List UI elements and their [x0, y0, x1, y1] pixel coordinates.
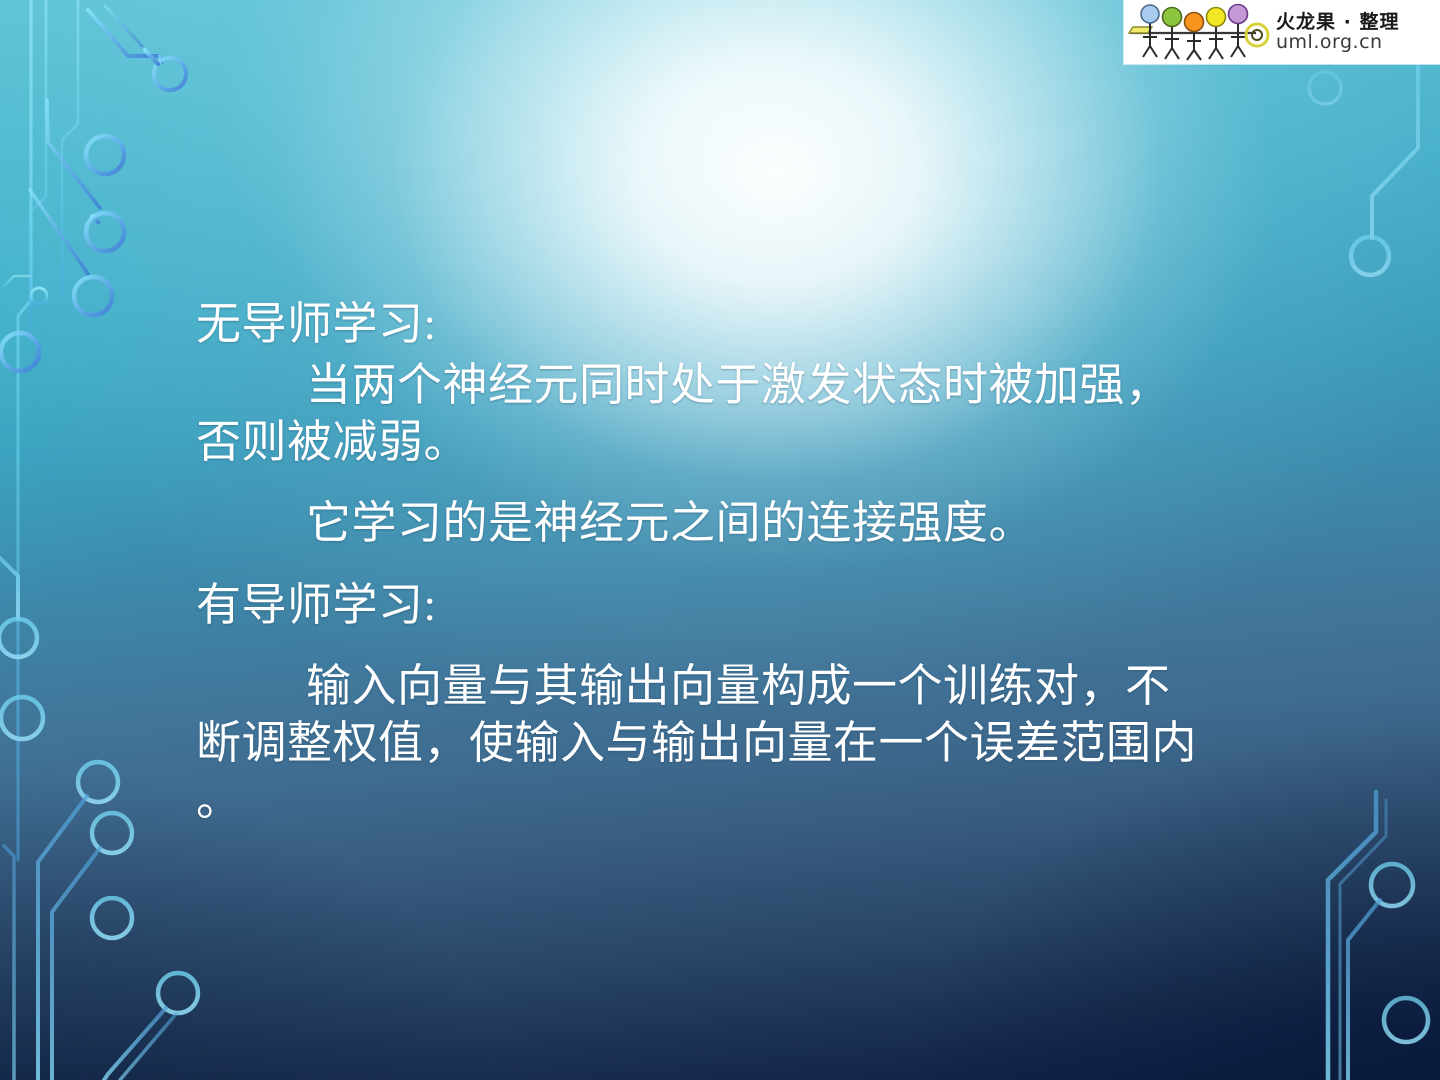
- content-line-4: 它学习的是神经元之间的连接强度。: [196, 495, 1276, 552]
- circuit-group-mid-left: [0, 558, 43, 1080]
- watermark-brand-url: uml.org.cn: [1276, 32, 1399, 52]
- content-line-3: 否则被减弱。: [196, 414, 1276, 471]
- circuit-group-top-left: [0, 0, 186, 860]
- content-line-8: 。: [196, 772, 1276, 829]
- circuit-group-top-right: [1309, 64, 1418, 275]
- circuit-group-bottom-right: [1328, 792, 1428, 1080]
- content-line-1: 无导师学习:: [196, 296, 1276, 353]
- content-line-2: 当两个神经元同时处于激发状态时被加强，: [196, 357, 1276, 414]
- presentation-slide: 无导师学习: 当两个神经元同时处于激发状态时被加强， 否则被减弱。 它学习的是神…: [0, 0, 1440, 1080]
- stick-figures-icon: [1124, 2, 1274, 62]
- content-line-5: 有导师学习:: [196, 577, 1276, 634]
- slide-body-text: 无导师学习: 当两个神经元同时处于激发状态时被加强， 否则被减弱。 它学习的是神…: [196, 296, 1276, 833]
- content-line-6: 输入向量与其输出向量构成一个训练对，不: [196, 658, 1276, 715]
- watermark-text-block: 火龙果 · 整理 uml.org.cn: [1276, 12, 1399, 52]
- watermark-brand-cn: 火龙果 · 整理: [1276, 12, 1399, 32]
- watermark-logo: 火龙果 · 整理 uml.org.cn: [1124, 0, 1440, 64]
- content-line-7: 断调整权值，使输入与输出向量在一个误差范围内: [196, 715, 1276, 772]
- circuit-group-bottom-left: [0, 762, 198, 1080]
